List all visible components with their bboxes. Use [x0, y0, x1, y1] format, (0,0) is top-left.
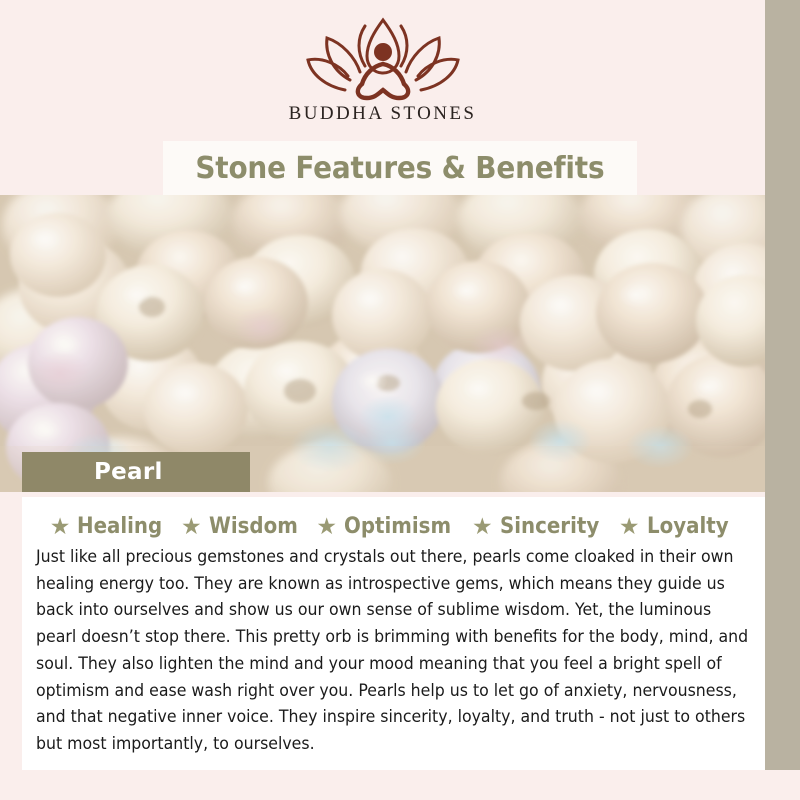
info-card: BUDDHA STONES	[0, 0, 765, 770]
benefit-item-loyalty: ★ Loyalty	[619, 514, 737, 539]
benefits-list: ★ Healing ★ Wisdom ★ Optimism ★ Sincerit…	[36, 509, 751, 543]
pearl-photograph	[0, 195, 765, 492]
benefit-item-sincerity: ★ Sincerity	[472, 514, 610, 539]
content-panel: ★ Healing ★ Wisdom ★ Optimism ★ Sincerit…	[22, 497, 765, 770]
star-icon: ★	[316, 515, 337, 538]
frame-band-right	[765, 0, 800, 662]
brand-wordmark: BUDDHA STONES	[289, 103, 477, 125]
benefit-item-healing: ★ Healing	[50, 514, 172, 539]
stone-name-label: Pearl	[22, 452, 250, 492]
brand-logo-block: BUDDHA STONES	[0, 0, 765, 141]
benefit-item-optimism: ★ Optimism	[316, 514, 463, 539]
bottom-strip	[0, 770, 800, 800]
benefit-label: Sincerity	[500, 514, 599, 539]
page-title-banner: Stone Features & Benefits	[163, 141, 637, 195]
benefit-label: Optimism	[344, 514, 451, 539]
lotus-meditation-figure-icon	[295, 16, 471, 102]
stone-name-text: Pearl	[22, 459, 163, 485]
star-icon: ★	[181, 515, 202, 538]
photo-canvas	[0, 195, 765, 492]
benefit-label: Loyalty	[647, 514, 729, 539]
benefit-label: Healing	[77, 514, 162, 539]
page-title: Stone Features & Benefits	[196, 151, 605, 186]
benefit-label: Wisdom	[209, 514, 298, 539]
star-icon: ★	[50, 515, 71, 538]
star-icon: ★	[472, 515, 493, 538]
benefit-item-wisdom: ★ Wisdom	[181, 514, 307, 539]
star-icon: ★	[619, 515, 640, 538]
description-text: Just like all precious gemstones and cry…	[36, 544, 750, 758]
